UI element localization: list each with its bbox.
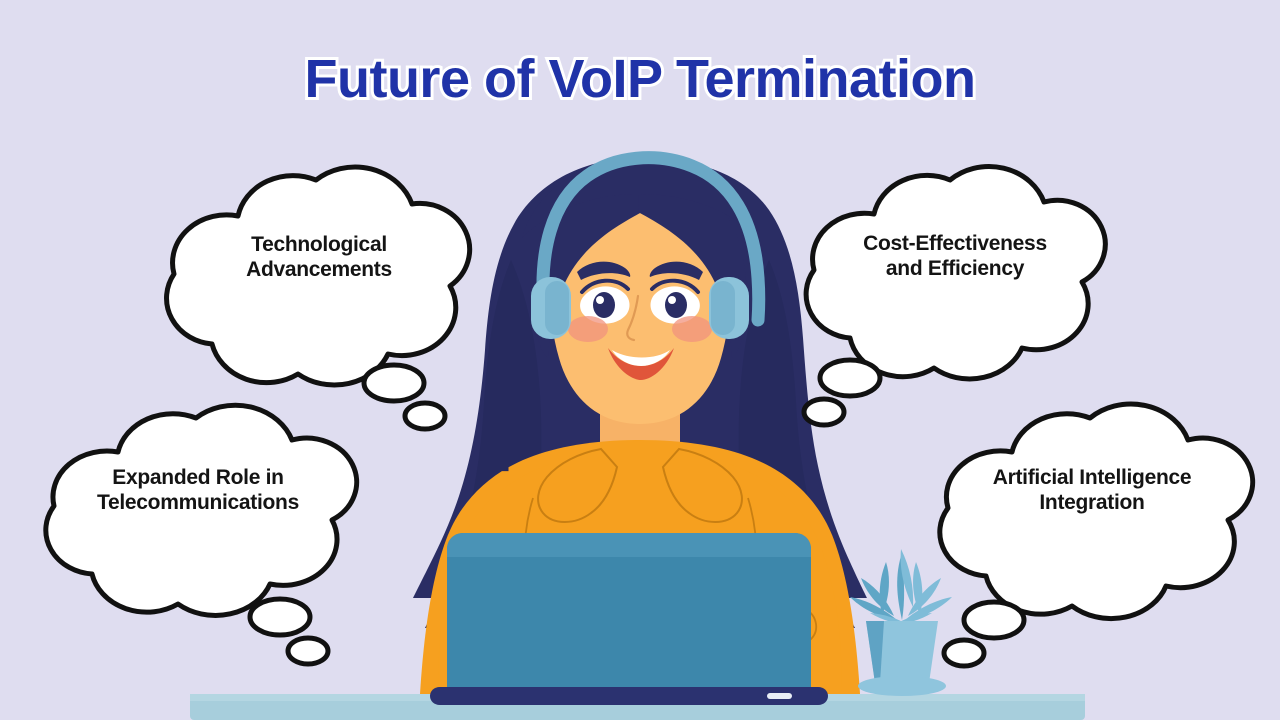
page-title: Future of VoIP Termination bbox=[0, 48, 1280, 110]
blush-left bbox=[568, 316, 608, 342]
thought-bubble-technological-advancements[interactable]: Technological Advancements bbox=[142, 158, 494, 438]
laptop-lid-highlight bbox=[447, 533, 811, 557]
bubble-cloud-shape bbox=[806, 166, 1105, 378]
bubble-tail-large bbox=[250, 599, 310, 635]
bubble-tail-small bbox=[405, 403, 445, 429]
laptop-trackpad-indicator bbox=[767, 693, 792, 699]
bubble-tail-large bbox=[964, 602, 1024, 638]
plant-saucer bbox=[858, 676, 946, 696]
bubble-tail-large bbox=[820, 360, 880, 396]
blush-right bbox=[672, 316, 712, 342]
thought-bubble-cost-effectiveness[interactable]: Cost-Effectiveness and Efficiency bbox=[782, 160, 1126, 435]
thought-bubble-ai-integration[interactable]: Artificial Intelligence Integration bbox=[908, 398, 1272, 676]
bubble-tail-small bbox=[288, 638, 328, 664]
bubble-cloud-shape bbox=[46, 405, 357, 615]
headphone-cup-left-inner bbox=[545, 281, 569, 335]
headphone-cup-right-inner bbox=[711, 281, 735, 335]
bubble-tail-small bbox=[944, 640, 984, 666]
thought-bubble-expanded-role[interactable]: Expanded Role in Telecommunications bbox=[18, 400, 378, 675]
bubble-cloud-shape bbox=[167, 167, 470, 385]
infographic-canvas: Future of VoIP Termination Technological… bbox=[0, 0, 1280, 720]
bubble-tail-small bbox=[804, 399, 844, 425]
bubble-cloud-shape bbox=[940, 404, 1253, 619]
laptop bbox=[430, 533, 828, 705]
bubble-tail-large bbox=[364, 365, 424, 401]
